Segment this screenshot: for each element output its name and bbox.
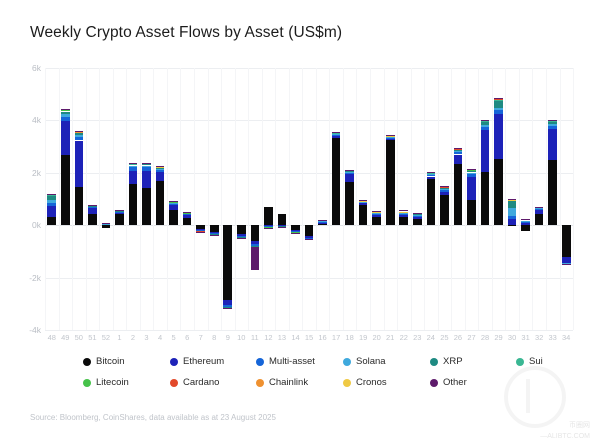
- bar-column[interactable]: [223, 68, 232, 330]
- legend-swatch-icon: [430, 379, 438, 387]
- bar-segment: [129, 163, 138, 164]
- bar-segment: [548, 160, 557, 226]
- bar-segment: [427, 175, 436, 177]
- x-axis-tick-label: 18: [345, 333, 353, 342]
- bar-segment: [481, 120, 490, 121]
- bar-segment: [562, 225, 571, 257]
- bar-segment: [508, 208, 517, 215]
- bar-segment: [521, 221, 530, 222]
- x-axis-tick-label: 15: [305, 333, 313, 342]
- x-axis-tick-label: 26: [454, 333, 462, 342]
- bar-segment: [481, 172, 490, 225]
- bar-segment: [47, 200, 56, 203]
- bar-segment: [183, 215, 192, 218]
- x-axis-tick-label: 27: [467, 333, 475, 342]
- bar-segment: [440, 192, 449, 196]
- legend-item-xrp[interactable]: XRP: [430, 356, 463, 367]
- bar-column[interactable]: [454, 68, 463, 330]
- x-axis-tick-label: 50: [75, 333, 83, 342]
- legend-label: Multi-asset: [269, 356, 315, 367]
- bar-segment: [88, 208, 97, 214]
- x-axis-tick-label: 29: [494, 333, 502, 342]
- bar-column[interactable]: [251, 68, 260, 330]
- bar-column[interactable]: [427, 68, 436, 330]
- bar-segment: [318, 220, 327, 221]
- bar-column[interactable]: [264, 68, 273, 330]
- legend-swatch-icon: [83, 358, 91, 366]
- legend-item-cronos[interactable]: Cronos: [343, 377, 387, 388]
- bar-column[interactable]: [481, 68, 490, 330]
- bar-segment: [75, 131, 84, 132]
- legend-item-multi-asset[interactable]: Multi-asset: [256, 356, 315, 367]
- x-axis-tick-label: 1: [117, 333, 121, 342]
- bar-column[interactable]: [467, 68, 476, 330]
- bar-segment: [75, 137, 84, 140]
- bar-segment: [47, 203, 56, 206]
- legend-item-bitcoin[interactable]: Bitcoin: [83, 356, 125, 367]
- bar-segment: [169, 204, 178, 206]
- legend-swatch-icon: [343, 358, 351, 366]
- bar-column[interactable]: [129, 68, 138, 330]
- plot-area: [45, 68, 573, 330]
- bar-segment: [535, 209, 544, 210]
- bar-segment: [142, 163, 151, 164]
- bar-column[interactable]: [332, 68, 341, 330]
- x-axis-tick-label: 22: [400, 333, 408, 342]
- legend-item-cardano[interactable]: Cardano: [170, 377, 219, 388]
- bar-series-container: [45, 68, 573, 330]
- bar-segment: [115, 210, 124, 211]
- bar-segment: [508, 225, 517, 226]
- bar-column[interactable]: [521, 68, 530, 330]
- bar-segment: [359, 200, 368, 201]
- bar-column[interactable]: [278, 68, 287, 330]
- x-axis-tick-label: 4: [158, 333, 162, 342]
- bar-column[interactable]: [115, 68, 124, 330]
- x-axis-tick-label: 9: [226, 333, 230, 342]
- bar-column[interactable]: [318, 68, 327, 330]
- bar-column[interactable]: [413, 68, 422, 330]
- bar-segment: [169, 201, 178, 202]
- bar-segment: [88, 205, 97, 206]
- bar-segment: [454, 148, 463, 149]
- bar-segment: [47, 206, 56, 217]
- bar-segment: [75, 187, 84, 225]
- bar-segment: [183, 218, 192, 225]
- bar-segment: [481, 125, 490, 127]
- legend-item-solana[interactable]: Solana: [343, 356, 386, 367]
- bar-segment: [183, 212, 192, 213]
- bar-segment: [467, 169, 476, 170]
- bar-segment: [210, 235, 219, 236]
- bar-segment: [196, 232, 205, 233]
- bar-segment: [102, 225, 111, 228]
- bar-column[interactable]: [183, 68, 192, 330]
- bar-column[interactable]: [169, 68, 178, 330]
- bar-segment: [413, 215, 422, 216]
- bar-segment: [481, 127, 490, 131]
- bar-segment: [359, 205, 368, 225]
- bar-segment: [318, 223, 327, 224]
- bar-segment: [427, 179, 436, 226]
- x-axis-tick-label: 19: [359, 333, 367, 342]
- bar-segment: [413, 213, 422, 214]
- x-axis-tick-label: 3: [144, 333, 148, 342]
- bar-segment: [399, 210, 408, 211]
- bar-segment: [332, 134, 341, 136]
- bar-column[interactable]: [305, 68, 314, 330]
- bar-column[interactable]: [237, 68, 246, 330]
- bar-segment: [454, 164, 463, 226]
- x-axis-tick-label: 6: [185, 333, 189, 342]
- chart-legend: BitcoinEthereumMulti-assetSolanaXRPSuiLi…: [45, 356, 565, 398]
- bar-segment: [47, 217, 56, 225]
- x-axis-tick-label: 8: [212, 333, 216, 342]
- page-title: Weekly Crypto Asset Flows by Asset (US$m…: [30, 24, 342, 42]
- bar-segment: [440, 186, 449, 187]
- bar-segment: [548, 120, 557, 121]
- bar-column[interactable]: [386, 68, 395, 330]
- bar-segment: [305, 225, 314, 236]
- bar-segment: [142, 188, 151, 225]
- bar-segment: [427, 172, 436, 173]
- bar-segment: [440, 190, 449, 192]
- bar-segment: [413, 217, 422, 219]
- bar-segment: [548, 126, 557, 129]
- x-axis-tick-label: 14: [291, 333, 299, 342]
- bar-segment: [508, 216, 517, 219]
- bar-segment: [413, 216, 422, 218]
- bar-segment: [332, 138, 341, 226]
- bar-column[interactable]: [548, 68, 557, 330]
- x-axis-tick-label: 33: [549, 333, 557, 342]
- x-axis-tick-label: 48: [48, 333, 56, 342]
- bar-segment: [481, 130, 490, 172]
- bar-column[interactable]: [210, 68, 219, 330]
- bar-segment: [278, 214, 287, 225]
- y-axis-tick-label: -4k: [13, 325, 41, 335]
- bar-segment: [345, 170, 354, 171]
- legend-label: Litecoin: [96, 377, 129, 388]
- bar-segment: [61, 109, 70, 110]
- bar-segment: [305, 239, 314, 240]
- bar-segment: [61, 155, 70, 225]
- x-axis-tick-label: 34: [562, 333, 570, 342]
- legend-item-sui[interactable]: Sui: [516, 356, 543, 367]
- bar-segment: [237, 238, 246, 239]
- bar-segment: [399, 215, 408, 217]
- bar-segment: [332, 136, 341, 138]
- bar-segment: [454, 152, 463, 154]
- x-axis-tick-label: 2: [131, 333, 135, 342]
- bar-segment: [129, 171, 138, 185]
- legend-label: Sui: [529, 356, 543, 367]
- bar-segment: [61, 114, 70, 116]
- bar-segment: [156, 172, 165, 181]
- bar-column[interactable]: [61, 68, 70, 330]
- legend-label: XRP: [443, 356, 463, 367]
- bar-segment: [548, 124, 557, 126]
- bar-segment: [481, 122, 490, 125]
- bar-segment: [142, 171, 151, 188]
- legend-label: Ethereum: [183, 356, 224, 367]
- legend-label: Other: [443, 377, 467, 388]
- bar-segment: [521, 223, 530, 225]
- legend-swatch-icon: [343, 379, 351, 387]
- x-axis-tick-label: 25: [440, 333, 448, 342]
- bar-column[interactable]: [156, 68, 165, 330]
- x-axis-tick-label: 51: [88, 333, 96, 342]
- bar-segment: [251, 225, 260, 241]
- x-axis-tick-label: 13: [278, 333, 286, 342]
- bar-column[interactable]: [562, 68, 571, 330]
- bar-segment: [494, 101, 503, 108]
- bar-segment: [386, 140, 395, 225]
- bar-segment: [454, 155, 463, 164]
- bar-segment: [332, 132, 341, 133]
- bar-segment: [156, 166, 165, 167]
- bar-segment: [129, 166, 138, 168]
- bar-segment: [440, 195, 449, 225]
- x-axis-tick-label: 30: [508, 333, 516, 342]
- legend-label: Bitcoin: [96, 356, 125, 367]
- bar-segment: [237, 225, 246, 234]
- bar-segment: [427, 174, 436, 175]
- bar-column[interactable]: [440, 68, 449, 330]
- y-axis-tick-label: 0k: [13, 220, 41, 230]
- legend-swatch-icon: [83, 379, 91, 387]
- bar-segment: [318, 222, 327, 223]
- legend-item-chainlink[interactable]: Chainlink: [256, 377, 308, 388]
- legend-item-litecoin[interactable]: Litecoin: [83, 377, 129, 388]
- x-axis-tick-label: 49: [61, 333, 69, 342]
- bar-column[interactable]: [291, 68, 300, 330]
- x-axis-tick-label: 24: [427, 333, 435, 342]
- bar-segment: [115, 212, 124, 214]
- x-axis-tick-label: 12: [264, 333, 272, 342]
- bar-segment: [399, 217, 408, 226]
- bar-segment: [345, 172, 354, 174]
- bar-column[interactable]: [47, 68, 56, 330]
- x-axis-tick-label: 5: [172, 333, 176, 342]
- legend-label: Cardano: [183, 377, 219, 388]
- legend-swatch-icon: [516, 358, 524, 366]
- bar-segment: [102, 223, 111, 224]
- bar-segment: [169, 210, 178, 225]
- bar-column[interactable]: [102, 68, 111, 330]
- bar-segment: [386, 135, 395, 136]
- legend-item-ethereum[interactable]: Ethereum: [170, 356, 224, 367]
- vertical-gridline: [573, 68, 574, 330]
- x-axis-tick-label: 7: [199, 333, 203, 342]
- bar-segment: [75, 135, 84, 137]
- bar-segment: [210, 225, 219, 232]
- x-axis-tick-label: 10: [237, 333, 245, 342]
- bar-segment: [427, 177, 436, 179]
- bar-column[interactable]: [535, 68, 544, 330]
- x-axis-tick-label: 16: [318, 333, 326, 342]
- bar-segment: [494, 110, 503, 115]
- bar-segment: [562, 264, 571, 265]
- bar-segment: [129, 167, 138, 171]
- bar-segment: [129, 184, 138, 225]
- bar-segment: [359, 203, 368, 205]
- gridline: [45, 330, 573, 331]
- bar-segment: [508, 199, 517, 200]
- x-axis-tick-label: 32: [535, 333, 543, 342]
- bar-segment: [548, 121, 557, 124]
- bar-segment: [345, 174, 354, 182]
- bar-segment: [75, 141, 84, 188]
- bar-column[interactable]: [359, 68, 368, 330]
- bar-segment: [251, 247, 260, 270]
- x-axis-tick-label: 31: [521, 333, 529, 342]
- bar-segment: [142, 166, 151, 167]
- bar-segment: [61, 121, 70, 155]
- legend-swatch-icon: [256, 358, 264, 366]
- bar-segment: [494, 108, 503, 110]
- bar-segment: [47, 194, 56, 195]
- legend-label: Cronos: [356, 377, 387, 388]
- bar-segment: [413, 219, 422, 226]
- bar-segment: [264, 228, 273, 229]
- bar-segment: [467, 171, 476, 173]
- bar-column[interactable]: [142, 68, 151, 330]
- bar-segment: [156, 181, 165, 225]
- bar-segment: [386, 139, 395, 140]
- bar-column[interactable]: [345, 68, 354, 330]
- bar-segment: [535, 210, 544, 213]
- bar-segment: [548, 129, 557, 160]
- bar-segment: [372, 211, 381, 212]
- bar-column[interactable]: [399, 68, 408, 330]
- bar-segment: [169, 205, 178, 210]
- bar-column[interactable]: [196, 68, 205, 330]
- bar-segment: [291, 233, 300, 234]
- legend-swatch-icon: [430, 358, 438, 366]
- x-axis-tick-label: 21: [386, 333, 394, 342]
- bar-segment: [345, 182, 354, 226]
- chart-card: Weekly Crypto Asset Flows by Asset (US$m…: [0, 0, 600, 446]
- x-axis-tick-label: 28: [481, 333, 489, 342]
- bar-column[interactable]: [494, 68, 503, 330]
- watermark-line-2: —ALIBTC.COM: [540, 432, 590, 443]
- bar-segment: [88, 214, 97, 225]
- bar-segment: [535, 208, 544, 209]
- bar-segment: [467, 200, 476, 225]
- bar-segment: [156, 170, 165, 172]
- bar-segment: [508, 219, 517, 225]
- bar-segment: [494, 98, 503, 99]
- legend-swatch-icon: [170, 358, 178, 366]
- bar-segment: [467, 174, 476, 177]
- bar-segment: [61, 112, 70, 115]
- legend-label: Chainlink: [269, 377, 308, 388]
- x-axis-tick-label: 17: [332, 333, 340, 342]
- legend-swatch-icon: [256, 379, 264, 387]
- bar-segment: [508, 201, 517, 209]
- bar-segment: [142, 167, 151, 172]
- bar-segment: [399, 212, 408, 213]
- bar-segment: [47, 196, 56, 200]
- bar-segment: [454, 151, 463, 152]
- legend-item-other[interactable]: Other: [430, 377, 467, 388]
- x-axis-tick-label: 23: [413, 333, 421, 342]
- x-axis-tick-label: 11: [251, 333, 259, 342]
- bar-segment: [521, 219, 530, 220]
- y-axis-tick-label: 6k: [13, 63, 41, 73]
- bar-segment: [440, 189, 449, 190]
- bar-segment: [535, 214, 544, 226]
- legend-label: Solana: [356, 356, 386, 367]
- bar-segment: [223, 225, 232, 300]
- bar-segment: [61, 117, 70, 122]
- bar-segment: [494, 114, 503, 158]
- bar-segment: [278, 227, 287, 228]
- bar-segment: [169, 203, 178, 204]
- bar-segment: [535, 207, 544, 208]
- bar-segment: [467, 173, 476, 174]
- bar-column[interactable]: [508, 68, 517, 330]
- y-axis-tick-label: -2k: [13, 273, 41, 283]
- bar-segment: [372, 217, 381, 225]
- bar-column[interactable]: [75, 68, 84, 330]
- y-axis-tick-label: 2k: [13, 168, 41, 178]
- x-axis-tick-label: 52: [102, 333, 110, 342]
- bar-segment: [75, 133, 84, 135]
- bar-segment: [521, 225, 530, 231]
- bar-segment: [264, 207, 273, 225]
- bar-column[interactable]: [372, 68, 381, 330]
- watermark-line-1: 币圈网: [540, 421, 590, 432]
- source-note: Source: Bloomberg, CoinShares, data avai…: [30, 413, 276, 422]
- bar-segment: [494, 159, 503, 226]
- bar-segment: [372, 215, 381, 217]
- bar-segment: [223, 308, 232, 309]
- x-axis-tick-label: 20: [373, 333, 381, 342]
- bar-column[interactable]: [88, 68, 97, 330]
- bar-segment: [521, 221, 530, 223]
- y-axis-tick-label: 4k: [13, 115, 41, 125]
- bar-segment: [467, 177, 476, 200]
- legend-swatch-icon: [170, 379, 178, 387]
- watermark: 币圈网 —ALIBTC.COM: [540, 421, 590, 442]
- bar-segment: [115, 214, 124, 225]
- x-axis-labels: 4849505152123456789101112131415161718192…: [45, 333, 573, 347]
- bar-segment: [156, 169, 165, 170]
